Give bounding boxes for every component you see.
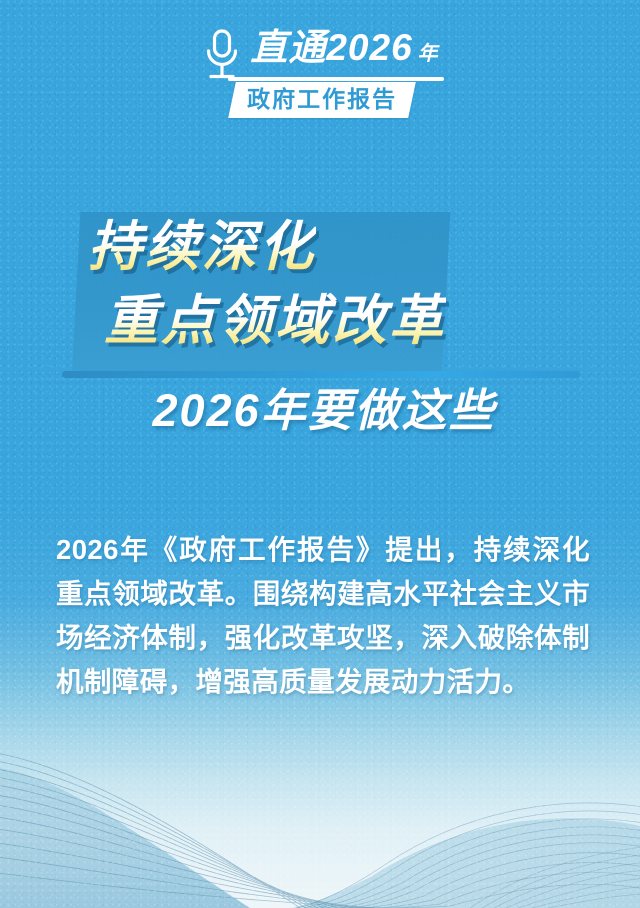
report-badge: 政府工作报告 — [228, 82, 416, 118]
report-badge-label: 政府工作报告 — [247, 86, 397, 113]
headline-line-1: 持续深化 — [88, 210, 316, 284]
paper-texture-overlay — [0, 0, 640, 908]
headline-line-2: 重点领域改革 — [104, 284, 446, 358]
logo-title: 直通2026年 — [250, 26, 437, 76]
logo-year-suffix: 年 — [418, 43, 438, 65]
body-paragraph: 2026年《政府工作报告》提出，持续深化重点领域改革。围绕构建高水平社会主义市场… — [56, 528, 590, 704]
microphone-icon — [202, 28, 242, 84]
logo-underline — [228, 77, 443, 81]
poster-canvas: 直通2026年 政府工作报告 持续深化 重点领域改革 2026年要做这些 202… — [0, 0, 640, 908]
logo-title-text: 直通2026 — [250, 27, 412, 68]
headline-group: 持续深化 重点领域改革 — [0, 210, 640, 358]
headline-accent-underline — [62, 371, 580, 378]
headline-subtitle: 2026年要做这些 — [0, 382, 640, 440]
